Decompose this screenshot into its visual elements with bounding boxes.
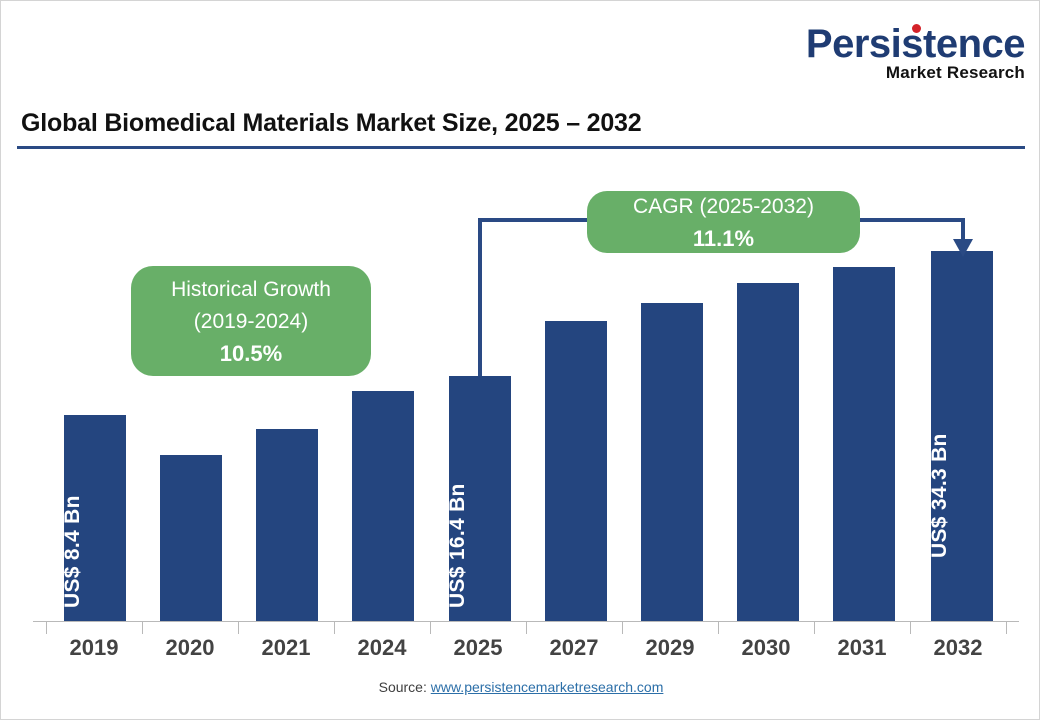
x-axis-tick: [526, 621, 527, 634]
x-tick-label-2027: 2027: [526, 635, 622, 661]
x-tick-label-2020: 2020: [142, 635, 238, 661]
bar-value-label-2025: US$ 16.4 Bn: [446, 483, 470, 608]
x-tick-label-2021: 2021: [238, 635, 334, 661]
x-axis-tick: [142, 621, 143, 634]
bar-2020[interactable]: [160, 455, 222, 621]
bar-value-label-2019: US$ 8.4 Bn: [61, 495, 85, 608]
cagr-title: CAGR (2025-2032): [633, 191, 814, 223]
source-prefix: Source:: [379, 679, 431, 695]
source-line: Source: www.persistencemarketresearch.co…: [1, 679, 1040, 695]
cagr-callout: CAGR (2025-2032) 11.1%: [587, 191, 860, 253]
x-axis-tick: [910, 621, 911, 634]
x-axis-tick: [718, 621, 719, 634]
bar-2031[interactable]: [833, 267, 895, 621]
source-link[interactable]: www.persistencemarketresearch.com: [431, 679, 664, 695]
x-tick-label-2019: 2019: [46, 635, 142, 661]
bar-2030[interactable]: [737, 283, 799, 621]
x-axis-tick: [46, 621, 47, 634]
x-axis-tick: [238, 621, 239, 634]
bar-2029[interactable]: [641, 303, 703, 621]
chart-page: Persistence Market Research Global Biome…: [0, 0, 1040, 720]
historical-growth-title: Historical Growth: [171, 274, 331, 306]
x-tick-label-2024: 2024: [334, 635, 430, 661]
x-tick-label-2032: 2032: [910, 635, 1006, 661]
x-axis-tick: [334, 621, 335, 634]
x-axis-tick: [814, 621, 815, 634]
historical-growth-period: (2019-2024): [194, 306, 308, 338]
bar-value-label-2032: US$ 34.3 Bn: [928, 433, 952, 558]
x-axis-tick: [622, 621, 623, 634]
x-tick-label-2025: 2025: [430, 635, 526, 661]
historical-growth-callout: Historical Growth (2019-2024) 10.5%: [131, 266, 371, 376]
x-tick-label-2030: 2030: [718, 635, 814, 661]
cagr-value: 11.1%: [693, 223, 754, 254]
x-axis-tick: [430, 621, 431, 634]
historical-growth-value: 10.5%: [220, 338, 282, 369]
bar-2027[interactable]: [545, 321, 607, 621]
bar-2024[interactable]: [352, 391, 414, 621]
bar-2021[interactable]: [256, 429, 318, 621]
x-tick-label-2029: 2029: [622, 635, 718, 661]
x-tick-label-2031: 2031: [814, 635, 910, 661]
x-axis-tick: [1006, 621, 1007, 634]
